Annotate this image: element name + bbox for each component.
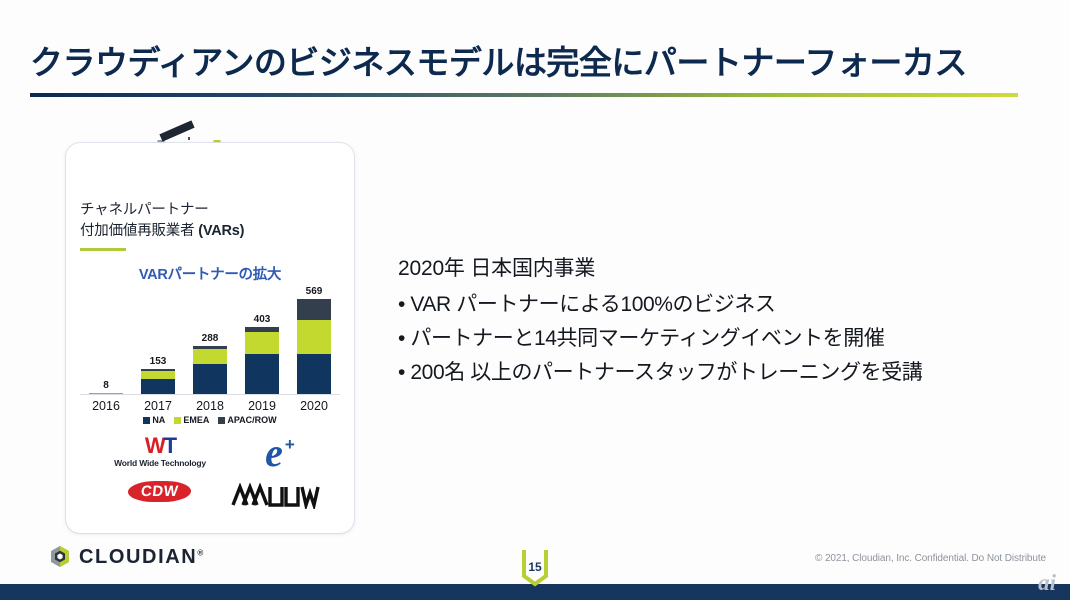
- chart-x-label-2017: 2017: [137, 399, 179, 413]
- wwt-label: World Wide Technology: [114, 458, 206, 468]
- legend-swatch-na: [143, 417, 150, 424]
- title-block: クラウディアンのビジネスモデルは完全にパートナーフォーカス: [30, 44, 1040, 97]
- chart-segment-emea-2019: [245, 332, 279, 354]
- chart-bar-2016: 8: [85, 293, 127, 395]
- chart-x-label-2018: 2018: [189, 399, 231, 413]
- slide: クラウディアンのビジネスモデルは完全にパートナーフォーカス チャネルパートナー …: [0, 0, 1070, 600]
- chart-bar-value-2020: 569: [306, 287, 323, 297]
- chart-bar-value-2017: 153: [150, 357, 167, 367]
- chart-plot-area: 8153288403569: [80, 293, 340, 395]
- chart-legend: NAEMEAAPAC/ROW: [80, 415, 340, 425]
- cloudian-logo: CLOUDIAN®: [48, 544, 203, 570]
- chart-bar-2018: 288: [189, 293, 231, 395]
- chart-bar-stack-2017: [141, 369, 175, 395]
- body-bullet-2: • パートナーと14共同マーケティングイベントを開催: [398, 322, 1038, 356]
- var-growth-chart: 8153288403569 20162017201820192020 NAEME…: [80, 293, 340, 413]
- legend-label-apac-row: APAC/ROW: [227, 415, 276, 425]
- cloudian-wordmark: CLOUDIAN®: [79, 546, 203, 569]
- chart-segment-emea-2017: [141, 371, 175, 379]
- chart-x-label-2019: 2019: [241, 399, 283, 413]
- logo-cdw: CDW: [114, 481, 206, 502]
- chart-bars: 8153288403569: [80, 293, 340, 395]
- chart-bar-2019: 403: [241, 293, 283, 395]
- arrow-wordmark-icon: [230, 483, 330, 509]
- copyright-notice: © 2021, Cloudian, Inc. Confidential. Do …: [815, 553, 1046, 564]
- chart-bar-stack-2018: [193, 346, 227, 395]
- wwt-mark-icon: WT: [145, 435, 175, 457]
- card-heading-line-2-main: 付加価値再販業者: [80, 223, 198, 239]
- card-heading: チャネルパートナー 付加価値再販業者 (VARs): [80, 200, 340, 251]
- body-bullet-3: • 200名 以上のパートナースタッフがトレーニングを受講: [398, 356, 1038, 390]
- chart-x-label-2020: 2020: [293, 399, 335, 413]
- chart-segment-emea-2018: [193, 349, 227, 363]
- legend-swatch-emea: [174, 417, 181, 424]
- eplus-e-glyph: e: [265, 433, 283, 473]
- chart-bar-2017: 153: [137, 293, 179, 395]
- logo-arrow: [228, 483, 332, 509]
- legend-item-apac-row: APAC/ROW: [218, 415, 276, 425]
- body-heading: 2020年 日本国内事業: [398, 252, 1038, 282]
- page-title: クラウディアンのビジネスモデルは完全にパートナーフォーカス: [30, 44, 1040, 82]
- legend-label-emea: EMEA: [183, 415, 209, 425]
- page-number: 15: [512, 560, 558, 574]
- chart-x-label-2016: 2016: [85, 399, 127, 413]
- cloudian-wordmark-text: CLOUDIAN: [79, 546, 197, 568]
- body-bullet-1: • VAR パートナーによる100%のビジネス: [398, 288, 1038, 322]
- logo-eplus: e +: [228, 433, 332, 473]
- chart-bar-value-2019: 403: [254, 315, 271, 325]
- partner-logos: WT World Wide Technology CDW e +: [76, 433, 344, 525]
- cloudian-trademark: ®: [197, 548, 203, 557]
- chart-segment-emea-2020: [297, 320, 331, 354]
- logo-world-wide-technology: WT World Wide Technology: [100, 435, 220, 468]
- chart-bar-stack-2020: [297, 299, 331, 395]
- var-partner-card: チャネルパートナー 付加価値再販業者 (VARs) VARパートナーの拡大 81…: [66, 143, 354, 533]
- chart-segment-na-2019: [245, 354, 279, 395]
- legend-label-na: NA: [152, 415, 165, 425]
- chart-bar-stack-2019: [245, 327, 279, 395]
- eplus-plus-glyph: +: [285, 435, 295, 455]
- chart-title: VARパートナーの拡大: [66, 263, 354, 284]
- chart-bar-value-2018: 288: [202, 334, 219, 344]
- chart-bar-value-2016: 8: [103, 381, 109, 391]
- card-heading-accent-rule: [80, 248, 126, 251]
- card-heading-line-1: チャネルパートナー: [80, 200, 340, 221]
- ai-watermark: ai: [1038, 571, 1056, 594]
- legend-item-na: NA: [143, 415, 165, 425]
- chart-baseline-axis: [80, 394, 340, 395]
- cloudian-hexagon-icon: [48, 544, 72, 570]
- chart-segment-apac-row-2020: [297, 299, 331, 320]
- chart-x-axis-labels: 20162017201820192020: [80, 399, 340, 413]
- title-underline-rule: [30, 93, 1018, 97]
- chart-bar-2020: 569: [293, 293, 335, 395]
- body-text-block: 2020年 日本国内事業 • VAR パートナーによる100%のビジネス • パ…: [398, 252, 1038, 390]
- page-number-badge: 15: [512, 546, 558, 594]
- chart-segment-na-2020: [297, 354, 331, 395]
- card-heading-vars: (VARs): [198, 223, 244, 239]
- chart-segment-na-2017: [141, 379, 175, 395]
- legend-swatch-apac-row: [218, 417, 225, 424]
- legend-item-emea: EMEA: [174, 415, 209, 425]
- cdw-label: CDW: [127, 481, 193, 502]
- card-heading-line-2: 付加価値再販業者 (VARs): [80, 221, 340, 242]
- chart-segment-na-2018: [193, 364, 227, 395]
